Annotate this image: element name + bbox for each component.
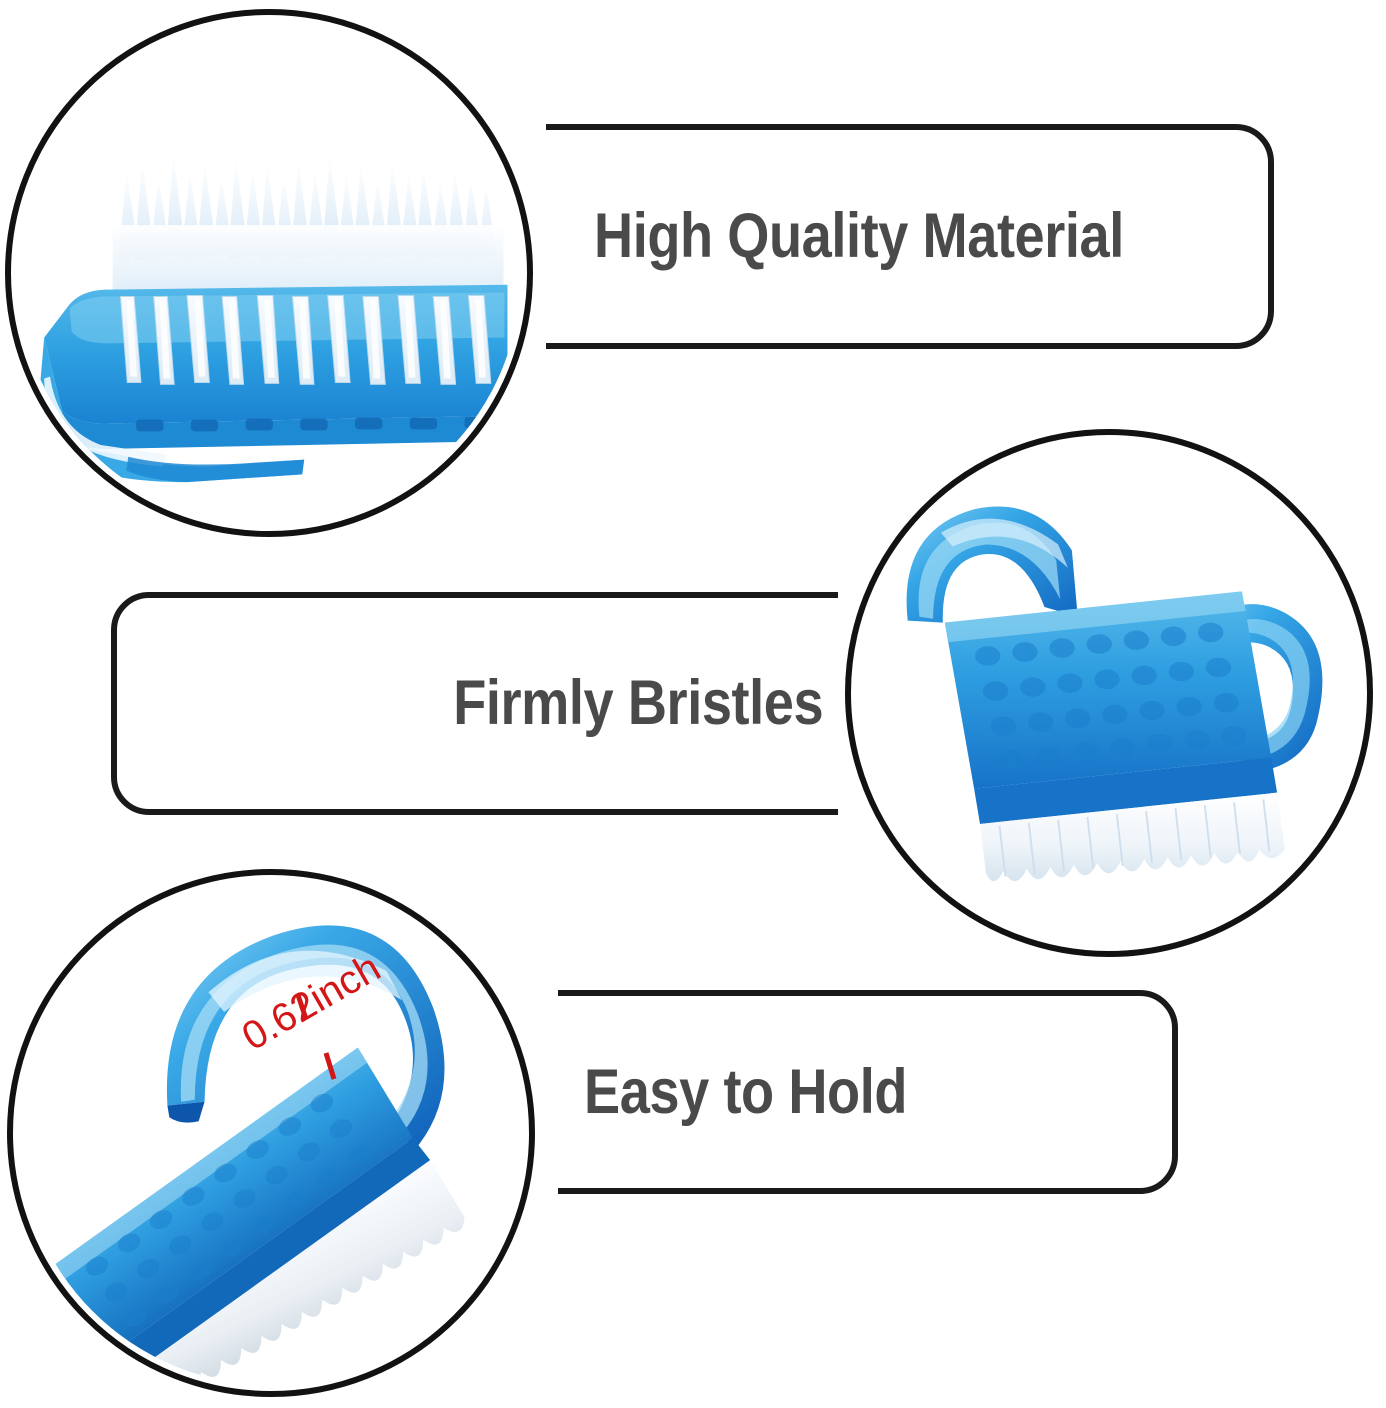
callout-label-easy-to-hold: Easy to Hold	[584, 1061, 907, 1124]
callout-label-high-quality-material: High Quality Material	[594, 205, 1124, 268]
callout-box-high-quality-material: High Quality Material	[470, 124, 1274, 349]
photo-circle-easy-to-hold	[7, 869, 535, 1397]
photo-circle-high-quality-material	[5, 9, 533, 537]
full-nail-brush-illustration	[851, 435, 1367, 951]
callout-label-firmly-bristles: Firmly Bristles	[453, 672, 823, 735]
brush-head-closeup-illustration	[11, 15, 527, 531]
brush-handle-grip-illustration	[13, 875, 529, 1391]
callout-box-easy-to-hold: Easy to Hold	[500, 990, 1178, 1194]
photo-circle-firmly-bristles	[845, 429, 1373, 957]
dimension-tick-marks	[230, 985, 430, 1115]
callout-box-firmly-bristles: Firmly Bristles	[111, 592, 891, 815]
infographic-stage: High Quality Material Firmly Bristles Ea…	[0, 0, 1386, 1408]
